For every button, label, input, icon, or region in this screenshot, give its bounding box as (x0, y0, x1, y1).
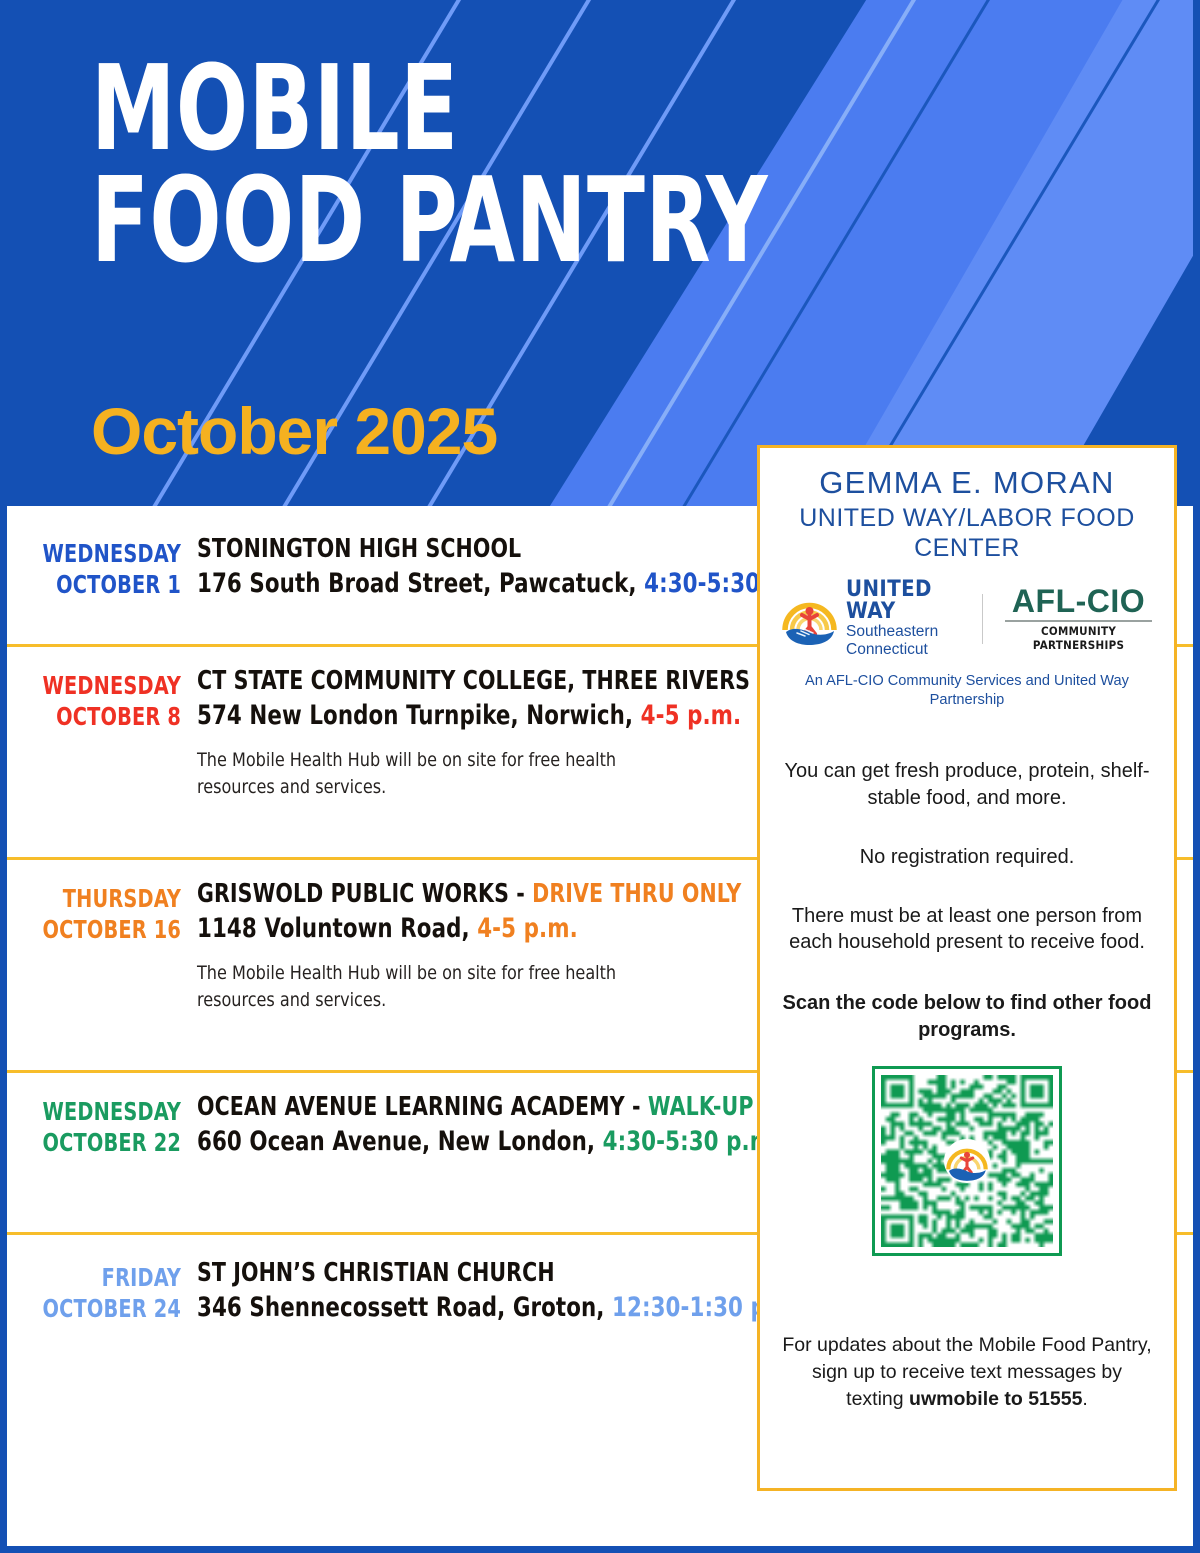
entry-date-block: WEDNESDAYOCTOBER 22 (7, 1092, 197, 1159)
entry-weekday: FRIDAY (31, 1262, 181, 1293)
entry-weekday: WEDNESDAY (31, 1096, 181, 1127)
entry-time: 4-5 p.m. (641, 700, 742, 731)
entry-address: 574 New London Turnpike, Norwich, (197, 700, 641, 731)
afl-cio-wordmark: AFL-CIO (1005, 585, 1152, 617)
card-scan-instruction: Scan the code below to find other food p… (782, 990, 1152, 1044)
info-card: GEMMA E. MORAN UNITED WAY/LABOR FOOD CEN… (757, 445, 1177, 1491)
entry-address: 176 South Broad Street, Pawcatuck, (197, 568, 644, 599)
entry-site-tag: DRIVE THRU ONLY (532, 879, 741, 909)
qr-code-icon[interactable] (872, 1066, 1062, 1256)
entry-date: OCTOBER 22 (31, 1127, 181, 1158)
afl-cio-tagline: COMMUNITY PARTNERSHIPS (1005, 624, 1152, 652)
entry-date-block: WEDNESDAYOCTOBER 1 (7, 534, 197, 601)
entry-address: 346 Shennecossett Road, Groton, (197, 1292, 612, 1323)
uw-line-2: Southeastern (846, 623, 960, 641)
card-paragraph-1: You can get fresh produce, protein, shel… (782, 758, 1152, 812)
entry-site-text: OCEAN AVENUE LEARNING ACADEMY - (197, 1092, 648, 1122)
entry-site-text: CT STATE COMMUNITY COLLEGE, THREE RIVERS (197, 666, 750, 696)
entry-time: 4-5 p.m. (477, 913, 578, 944)
entry-date: OCTOBER 24 (31, 1293, 181, 1324)
card-title-secondary: UNITED WAY/LABOR FOOD CENTER (782, 503, 1152, 563)
entry-address: 660 Ocean Avenue, New London, (197, 1126, 603, 1157)
title-line-1: MOBILE (91, 52, 768, 164)
entry-address: 1148 Voluntown Road, (197, 913, 477, 944)
entry-date: OCTOBER 16 (31, 914, 181, 945)
entry-site-text: ST JOHN’S CHRISTIAN CHURCH (197, 1258, 555, 1288)
qr-center-united-way-icon (944, 1139, 990, 1183)
signup-keyword: uwmobile to 51555 (909, 1388, 1082, 1410)
united-way-logo: UNITED WAY Southeastern Connecticut (782, 579, 982, 659)
uw-line-1: UNITED WAY (846, 577, 932, 624)
entry-weekday: THURSDAY (31, 883, 181, 914)
card-title-primary: GEMMA E. MORAN (782, 466, 1152, 501)
entry-date-block: WEDNESDAYOCTOBER 8 (7, 666, 197, 801)
qr-code-container[interactable] (782, 1066, 1152, 1256)
afl-cio-logo: AFL-CIO COMMUNITY PARTNERSHIPS (983, 585, 1152, 652)
entry-site-text: GRISWOLD PUBLIC WORKS - (197, 879, 532, 909)
entry-time: 4:30-5:30 p.m. (603, 1126, 781, 1157)
uw-line-3: Connecticut (846, 641, 960, 659)
flyer-page: MOBILE FOOD PANTRY October 2025 WEDNESDA… (0, 0, 1200, 1553)
logo-strip: UNITED WAY Southeastern Connecticut AFL-… (782, 579, 1152, 659)
header-banner: MOBILE FOOD PANTRY October 2025 (7, 0, 1200, 506)
entry-note: The Mobile Health Hub will be on site fo… (197, 747, 639, 801)
card-paragraph-2: No registration required. (782, 844, 1152, 871)
entry-date: OCTOBER 8 (31, 701, 181, 732)
page-title: MOBILE FOOD PANTRY (91, 52, 937, 276)
united-way-wordmark: UNITED WAY Southeastern Connecticut (846, 579, 960, 659)
entry-site-text: STONINGTON HIGH SCHOOL (197, 534, 521, 564)
afl-cio-rule (1005, 620, 1152, 622)
entry-date-block: FRIDAYOCTOBER 24 (7, 1258, 197, 1325)
entry-date-block: THURSDAYOCTOBER 16 (7, 879, 197, 1014)
title-line-2: FOOD PANTRY (91, 164, 768, 276)
entry-weekday: WEDNESDAY (31, 538, 181, 569)
text-signup-note: For updates about the Mobile Food Pantry… (782, 1332, 1152, 1414)
month-subtitle: October 2025 (91, 398, 497, 464)
partnership-line: An AFL-CIO Community Services and United… (782, 672, 1152, 710)
entry-date: OCTOBER 1 (31, 569, 181, 600)
card-paragraph-3: There must be at least one person from e… (782, 903, 1152, 957)
entry-note: The Mobile Health Hub will be on site fo… (197, 960, 639, 1014)
entry-weekday: WEDNESDAY (31, 670, 181, 701)
united-way-rainbow-hand-icon (782, 593, 837, 645)
